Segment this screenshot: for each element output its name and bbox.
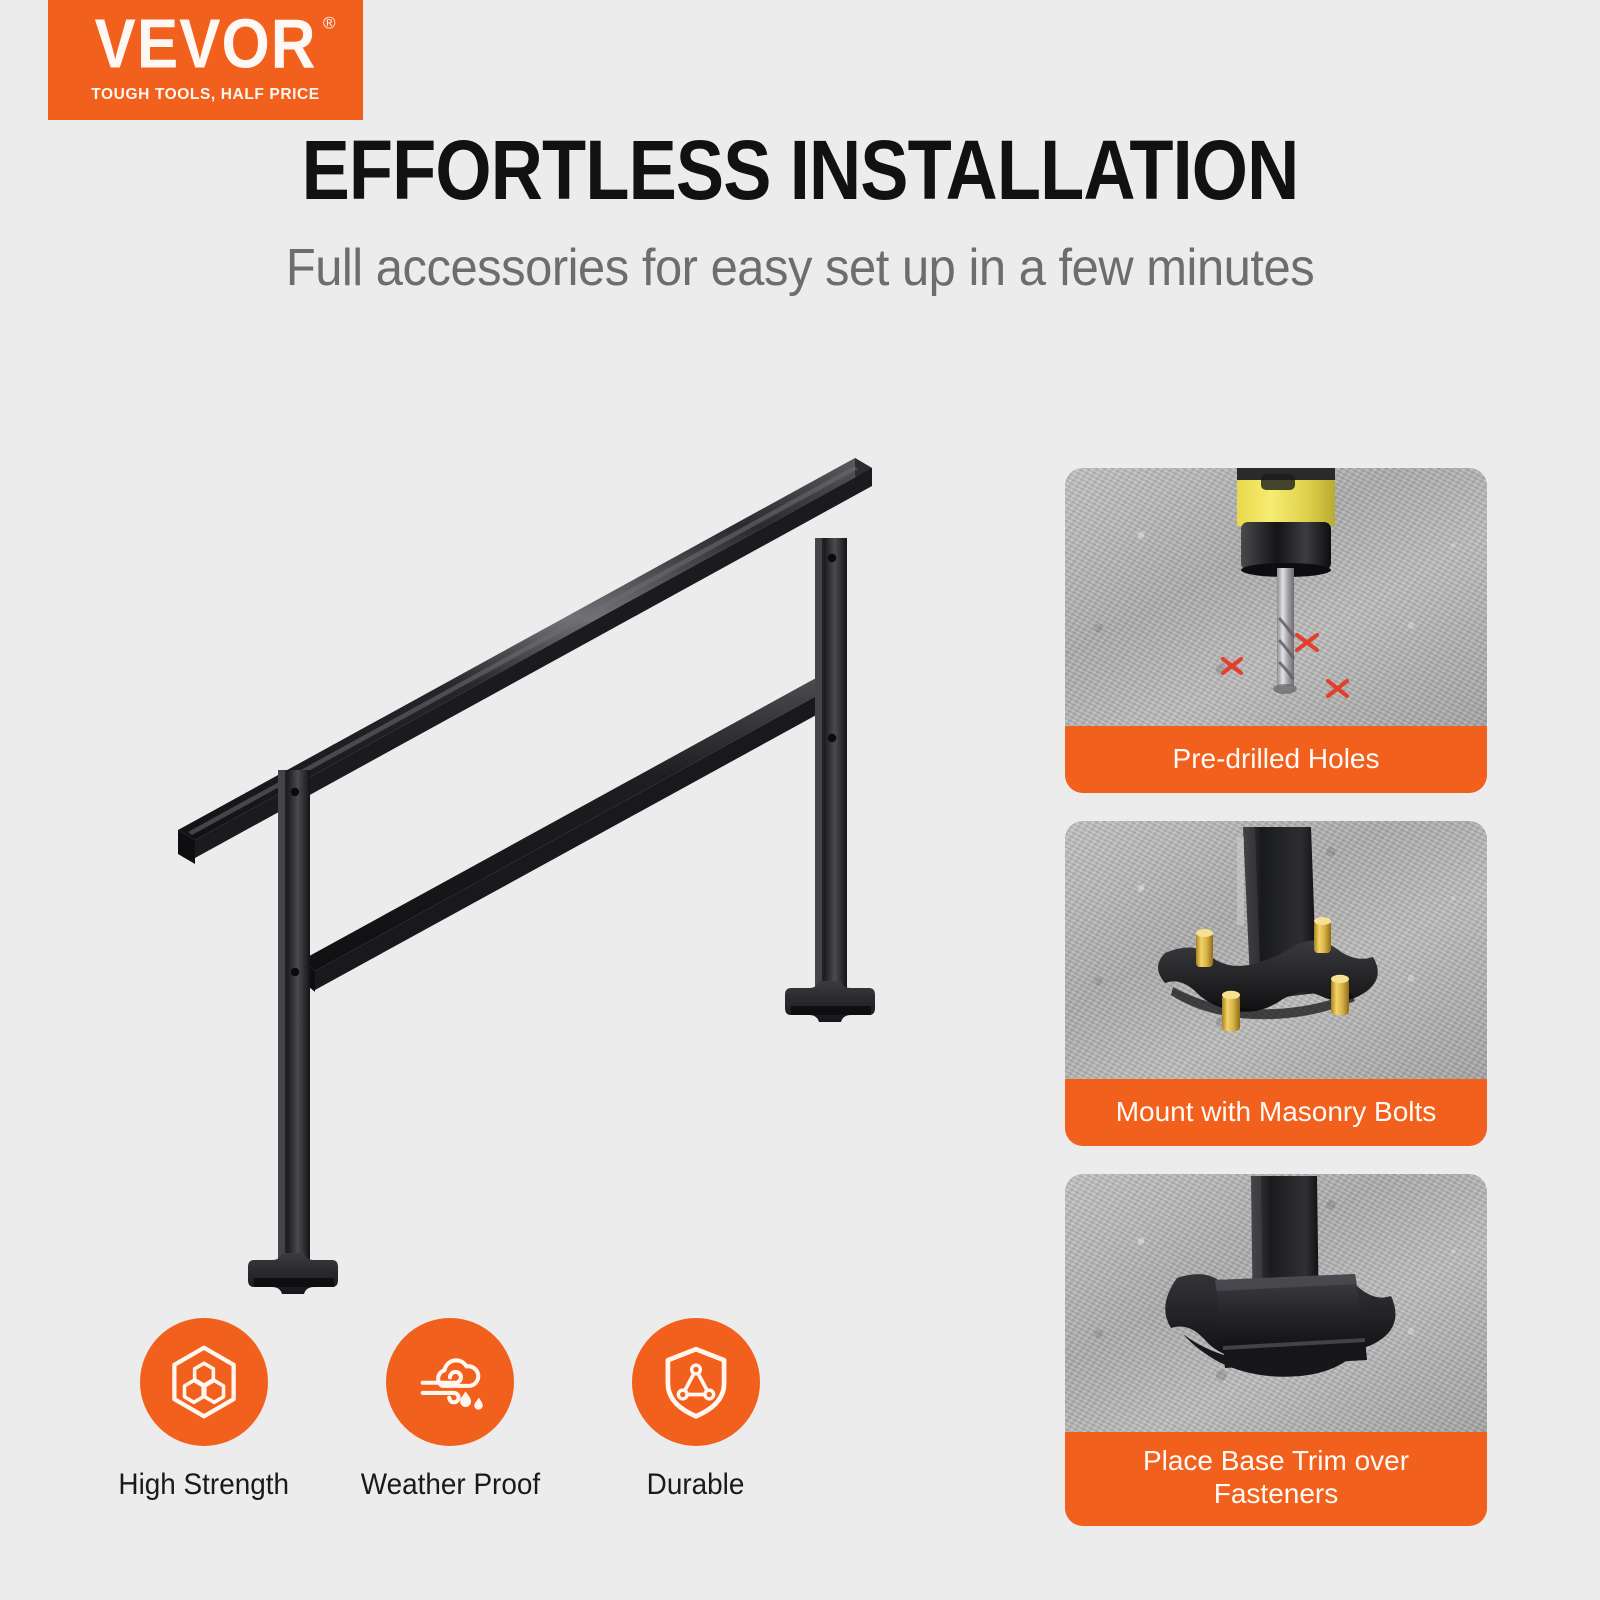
step-caption: Pre-drilled Holes [1065,726,1487,793]
step-caption: Place Base Trim over Fasteners [1065,1432,1487,1526]
registered-trademark-icon: ® [323,15,337,31]
badge-circle [386,1318,514,1446]
brand-wordmark-text: VEVOR [94,5,316,82]
brass-masonry-bolt [1196,929,1213,967]
step-panel-mount-with-masonry-bolts: Mount with Masonry Bolts [1065,821,1487,1146]
brass-masonry-bolt [1222,991,1240,1031]
feature-badge-label: Durable [647,1468,745,1502]
left-post [248,770,338,1294]
step-photo-masonry-bolts [1065,821,1487,1079]
cloud-wind-rain-icon [411,1343,489,1421]
honeycomb-hexagon-icon [165,1343,243,1421]
step-caption: Mount with Masonry Bolts [1065,1079,1487,1146]
feature-badge-row: High Strength Weather Proof Durable [140,1318,940,1538]
badge-circle [140,1318,268,1446]
step-panel-place-base-trim-over-fasteners: Place Base Trim over Fasteners [1065,1174,1487,1526]
step-photo-drilling [1065,468,1487,726]
feature-badge-high-strength: High Strength [140,1318,268,1538]
red-x-mark [1223,659,1241,673]
page-subheadline: Full accessories for easy set up in a fe… [48,238,1552,298]
brass-masonry-bolt [1314,917,1331,953]
page-headline: EFFORTLESS INSTALLATION [112,128,1488,212]
badge-circle [632,1318,760,1446]
feature-badge-label: High Strength [119,1468,290,1502]
yellow-black-power-drill [1237,468,1335,577]
step-photo-base-trim [1065,1174,1487,1432]
brand-logo-block: VEVOR ® TOUGH TOOLS, HALF PRICE [48,0,363,120]
shield-molecule-icon [657,1343,735,1421]
installation-steps: Pre-drilled Holes [1065,468,1487,1554]
brand-wordmark: VEVOR ® [94,12,316,78]
feature-badge-weather-proof: Weather Proof [386,1318,514,1538]
step-caption-line-1: Place Base Trim over [1075,1444,1477,1477]
feature-badge-durable: Durable [632,1318,760,1538]
red-x-mark [1297,635,1317,650]
cross-base-plate [248,1253,338,1294]
product-hero-image [150,440,950,1320]
right-post [785,538,875,1022]
masonry-drill-bit [1273,568,1297,694]
red-x-mark [1328,681,1347,696]
brass-masonry-bolt [1331,975,1349,1015]
brand-tagline: TOUGH TOOLS, HALF PRICE [91,86,320,104]
cross-base-plate [785,981,875,1022]
step-caption-line-2: Fasteners [1075,1477,1477,1510]
feature-badge-label: Weather Proof [360,1468,539,1502]
step-panel-pre-drilled-holes: Pre-drilled Holes [1065,468,1487,793]
